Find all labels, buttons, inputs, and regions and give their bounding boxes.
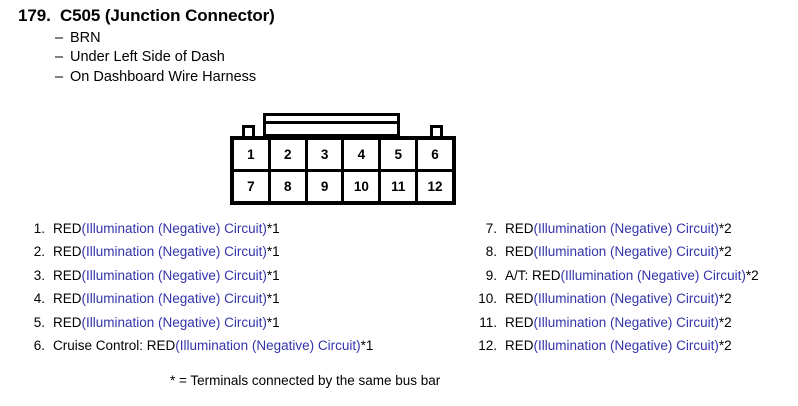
detail-text-location: Under Left Side of Dash (70, 49, 225, 65)
circuit-description: (Illumination (Negative) Circuit) (175, 338, 360, 353)
detail-line-location: – Under Left Side of Dash (55, 49, 275, 65)
circuit-index: 1. (20, 221, 45, 236)
dash-bullet-icon: – (55, 69, 70, 85)
circuit-description: (Illumination (Negative) Circuit) (534, 315, 719, 330)
circuit-list-right: 7. RED (Illumination (Negative) Circuit)… (472, 221, 759, 361)
circuit-index: 7. (472, 221, 497, 236)
circuit-description: (Illumination (Negative) Circuit) (561, 268, 746, 283)
connector-pin-grid: 1 2 3 4 5 6 7 8 9 10 11 12 (230, 136, 456, 205)
circuit-list-item: 3. RED (Illumination (Negative) Circuit)… (20, 268, 373, 291)
circuit-index: 11. (472, 315, 497, 330)
circuit-list-item: 11. RED (Illumination (Negative) Circuit… (472, 315, 759, 338)
circuit-description: (Illumination (Negative) Circuit) (82, 315, 267, 330)
pin-row-top: 1 2 3 4 5 6 (234, 140, 452, 172)
circuit-wire-label: A/T: RED (505, 268, 561, 283)
circuit-busbar-note: *2 (746, 268, 759, 283)
circuit-list-item: 6. Cruise Control: RED (Illumination (Ne… (20, 338, 373, 361)
circuit-wire-label: RED (505, 221, 534, 236)
pin-cell-6[interactable]: 6 (418, 140, 452, 169)
circuit-wire-label: RED (53, 268, 82, 283)
pin-cell-7[interactable]: 7 (234, 172, 271, 201)
circuit-list-item: 8. RED (Illumination (Negative) Circuit)… (472, 244, 759, 267)
connector-header: 179. C505 (Junction Connector) – BRN – U… (18, 6, 275, 85)
circuit-description: (Illumination (Negative) Circuit) (82, 268, 267, 283)
circuit-list-left: 1. RED (Illumination (Negative) Circuit)… (20, 221, 373, 361)
circuit-busbar-note: *1 (267, 221, 280, 236)
pin-cell-5[interactable]: 5 (381, 140, 418, 169)
circuit-description: (Illumination (Negative) Circuit) (534, 338, 719, 353)
pin-row-bottom: 7 8 9 10 11 12 (234, 172, 452, 201)
circuit-busbar-note: *1 (267, 315, 280, 330)
pin-cell-4[interactable]: 4 (344, 140, 381, 169)
circuit-wire-label: RED (505, 338, 534, 353)
dash-bullet-icon: – (55, 49, 70, 65)
circuit-busbar-note: *2 (719, 221, 732, 236)
circuit-wire-label: RED (53, 244, 82, 259)
detail-text-harness: On Dashboard Wire Harness (70, 69, 256, 85)
circuit-list-item: 1. RED (Illumination (Negative) Circuit)… (20, 221, 373, 244)
circuit-list-item: 4. RED (Illumination (Negative) Circuit)… (20, 291, 373, 314)
pin-cell-12[interactable]: 12 (418, 172, 452, 201)
circuit-list-item: 7. RED (Illumination (Negative) Circuit)… (472, 221, 759, 244)
detail-line-color: – BRN (55, 30, 275, 46)
circuit-index: 2. (20, 244, 45, 259)
circuit-index: 5. (20, 315, 45, 330)
pin-cell-1[interactable]: 1 (234, 140, 271, 169)
circuit-index: 8. (472, 244, 497, 259)
circuit-wire-label: RED (505, 315, 534, 330)
title-connector-name: C505 (Junction Connector) (60, 6, 275, 26)
pin-cell-10[interactable]: 10 (344, 172, 381, 201)
pin-cell-9[interactable]: 9 (308, 172, 345, 201)
circuit-wire-label: Cruise Control: RED (53, 338, 175, 353)
circuit-list-item: 5. RED (Illumination (Negative) Circuit)… (20, 315, 373, 338)
circuit-index: 3. (20, 268, 45, 283)
circuit-busbar-note: *1 (267, 291, 280, 306)
connector-latch-tab-line (266, 121, 397, 124)
circuit-index: 6. (20, 338, 45, 353)
circuit-description: (Illumination (Negative) Circuit) (534, 291, 719, 306)
circuit-description: (Illumination (Negative) Circuit) (82, 291, 267, 306)
circuit-busbar-note: *1 (361, 338, 374, 353)
circuit-index: 10. (472, 291, 497, 306)
circuit-busbar-note: *1 (267, 268, 280, 283)
circuit-busbar-note: *2 (719, 338, 732, 353)
circuit-wire-label: RED (53, 315, 82, 330)
circuit-busbar-note: *2 (719, 315, 732, 330)
title-item-number: 179. (18, 6, 60, 26)
circuit-busbar-note: *2 (719, 291, 732, 306)
pin-cell-3[interactable]: 3 (308, 140, 345, 169)
circuit-busbar-note: *1 (267, 244, 280, 259)
detail-line-harness: – On Dashboard Wire Harness (55, 69, 275, 85)
circuit-description: (Illumination (Negative) Circuit) (534, 244, 719, 259)
pin-cell-8[interactable]: 8 (271, 172, 308, 201)
circuit-list-item: 9. A/T: RED (Illumination (Negative) Cir… (472, 268, 759, 291)
page-title: 179. C505 (Junction Connector) (18, 6, 275, 26)
circuit-wire-label: RED (53, 291, 82, 306)
connector-latch-tab (263, 113, 400, 137)
circuit-index: 4. (20, 291, 45, 306)
circuit-wire-label: RED (505, 291, 534, 306)
connector-diagram: 1 2 3 4 5 6 7 8 9 10 11 12 (230, 113, 456, 205)
circuit-description: (Illumination (Negative) Circuit) (82, 221, 267, 236)
busbar-footnote: * = Terminals connected by the same bus … (170, 373, 440, 388)
circuit-list-item: 2. RED (Illumination (Negative) Circuit)… (20, 244, 373, 267)
circuit-wire-label: RED (505, 244, 534, 259)
detail-text-color: BRN (70, 30, 101, 46)
circuit-index: 12. (472, 338, 497, 353)
dash-bullet-icon: – (55, 30, 70, 46)
circuit-description: (Illumination (Negative) Circuit) (534, 221, 719, 236)
circuit-list-item: 10. RED (Illumination (Negative) Circuit… (472, 291, 759, 314)
circuit-index: 9. (472, 268, 497, 283)
circuit-busbar-note: *2 (719, 244, 732, 259)
circuit-list-item: 12. RED (Illumination (Negative) Circuit… (472, 338, 759, 361)
circuit-description: (Illumination (Negative) Circuit) (82, 244, 267, 259)
circuit-wire-label: RED (53, 221, 82, 236)
pin-cell-11[interactable]: 11 (381, 172, 418, 201)
pin-cell-2[interactable]: 2 (271, 140, 308, 169)
